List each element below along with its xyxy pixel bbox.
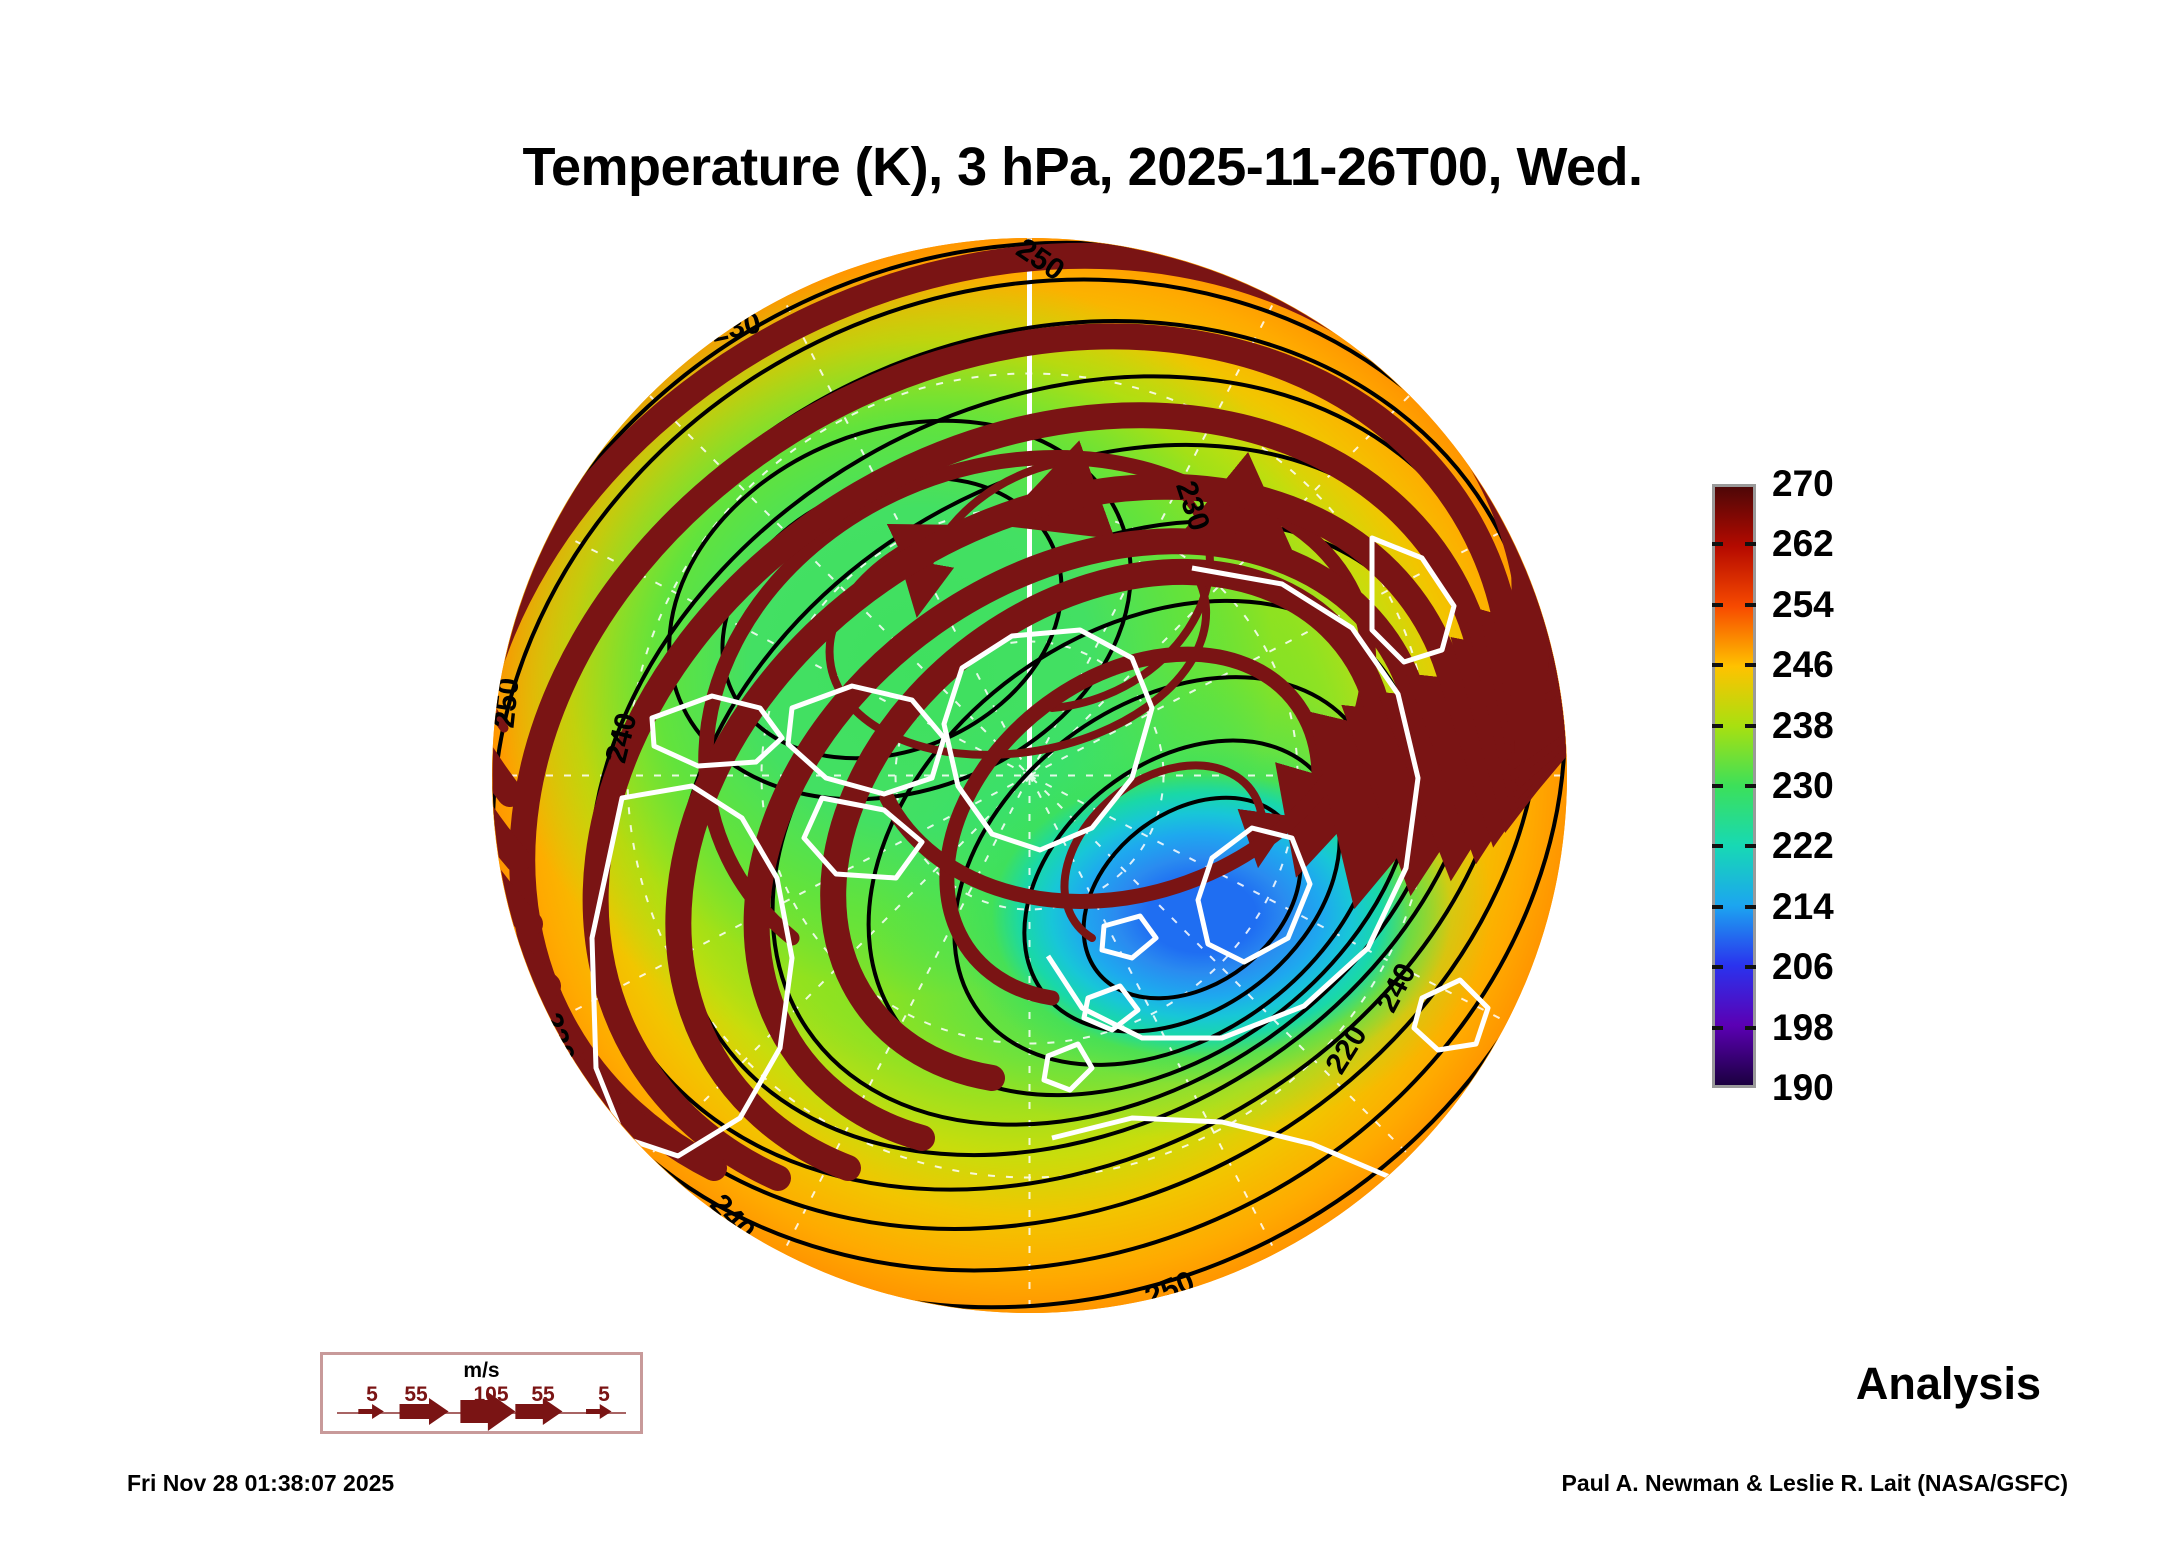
- colorbar-tick: [1712, 663, 1723, 667]
- wind-legend-value: 105: [473, 1383, 508, 1407]
- colorbar-tick: [1745, 603, 1756, 607]
- colorbar-tick-label: 270: [1772, 463, 1834, 505]
- colorbar-tick-label: 206: [1772, 946, 1834, 988]
- colorbar: 270262254246238230222214206198190: [1712, 484, 1942, 1088]
- colorbar-tick-label: 238: [1772, 705, 1834, 747]
- contour-label: 250: [1010, 238, 1071, 288]
- colorbar-tick-label: 246: [1772, 644, 1834, 686]
- wind-legend-value: 5: [598, 1383, 610, 1407]
- map-disc: 250240230250230250240230240250240220250: [492, 238, 1567, 1313]
- contour-label: 240: [1370, 958, 1424, 1018]
- colorbar-tick-label: 214: [1772, 886, 1834, 928]
- colorbar-tick: [1745, 844, 1756, 848]
- colorbar-tick-label: 222: [1772, 825, 1834, 867]
- colorbar-tick: [1712, 724, 1723, 728]
- contour-label: 250: [714, 1252, 774, 1305]
- colorbar-tick-label: 262: [1772, 523, 1834, 565]
- contour-label: 240: [734, 238, 794, 279]
- colorbar-tick: [1745, 542, 1756, 546]
- contour-label: 240: [703, 1188, 762, 1248]
- colorbar-tick: [1712, 844, 1723, 848]
- colorbar-tick-label: 254: [1772, 584, 1834, 626]
- contour-label: 240: [599, 710, 644, 767]
- page-title: Temperature (K), 3 hPa, 2025-11-26T00, W…: [0, 136, 2165, 198]
- colorbar-tick: [1712, 784, 1723, 788]
- contour-labels: 250240230250230250240230240250240220250: [492, 238, 1567, 1313]
- colorbar-tick: [1712, 905, 1723, 909]
- colorbar-tick: [1712, 1026, 1723, 1030]
- contour-label: 250: [492, 676, 527, 729]
- colorbar-tick-label: 230: [1772, 765, 1834, 807]
- colorbar-tick-label: 198: [1772, 1007, 1834, 1049]
- wind-legend-value: 55: [531, 1383, 554, 1407]
- wind-legend-value: 5: [366, 1383, 378, 1407]
- author-credit: Paul A. Newman & Leslie R. Lait (NASA/GS…: [1561, 1470, 2068, 1497]
- wind-legend-value: 55: [404, 1383, 427, 1407]
- colorbar-tick: [1745, 965, 1756, 969]
- wind-legend-unit: m/s: [323, 1359, 640, 1383]
- colorbar-tick: [1745, 724, 1756, 728]
- colorbar-tick: [1745, 905, 1756, 909]
- contour-label: 230: [1168, 477, 1216, 535]
- polar-map: 250240230250230250240230240250240220250: [492, 238, 1567, 1313]
- contour-label: 250: [540, 258, 598, 318]
- render-timestamp: Fri Nov 28 01:38:07 2025: [127, 1470, 394, 1497]
- colorbar-tick: [1712, 965, 1723, 969]
- colorbar-tick-label: 190: [1772, 1067, 1834, 1109]
- colorbar-tick: [1745, 1026, 1756, 1030]
- colorbar-tick: [1745, 663, 1756, 667]
- contour-label: 230: [533, 1009, 581, 1067]
- contour-label: 230: [708, 306, 764, 350]
- wind-speed-legend: m/s 555105555: [320, 1352, 643, 1434]
- contour-label: 220: [1319, 1020, 1374, 1080]
- colorbar-tick: [1712, 603, 1723, 607]
- colorbar-tick: [1712, 542, 1723, 546]
- colorbar-tick: [1745, 784, 1756, 788]
- contour-label: 250: [1140, 1265, 1199, 1313]
- analysis-label: Analysis: [1856, 1358, 2041, 1410]
